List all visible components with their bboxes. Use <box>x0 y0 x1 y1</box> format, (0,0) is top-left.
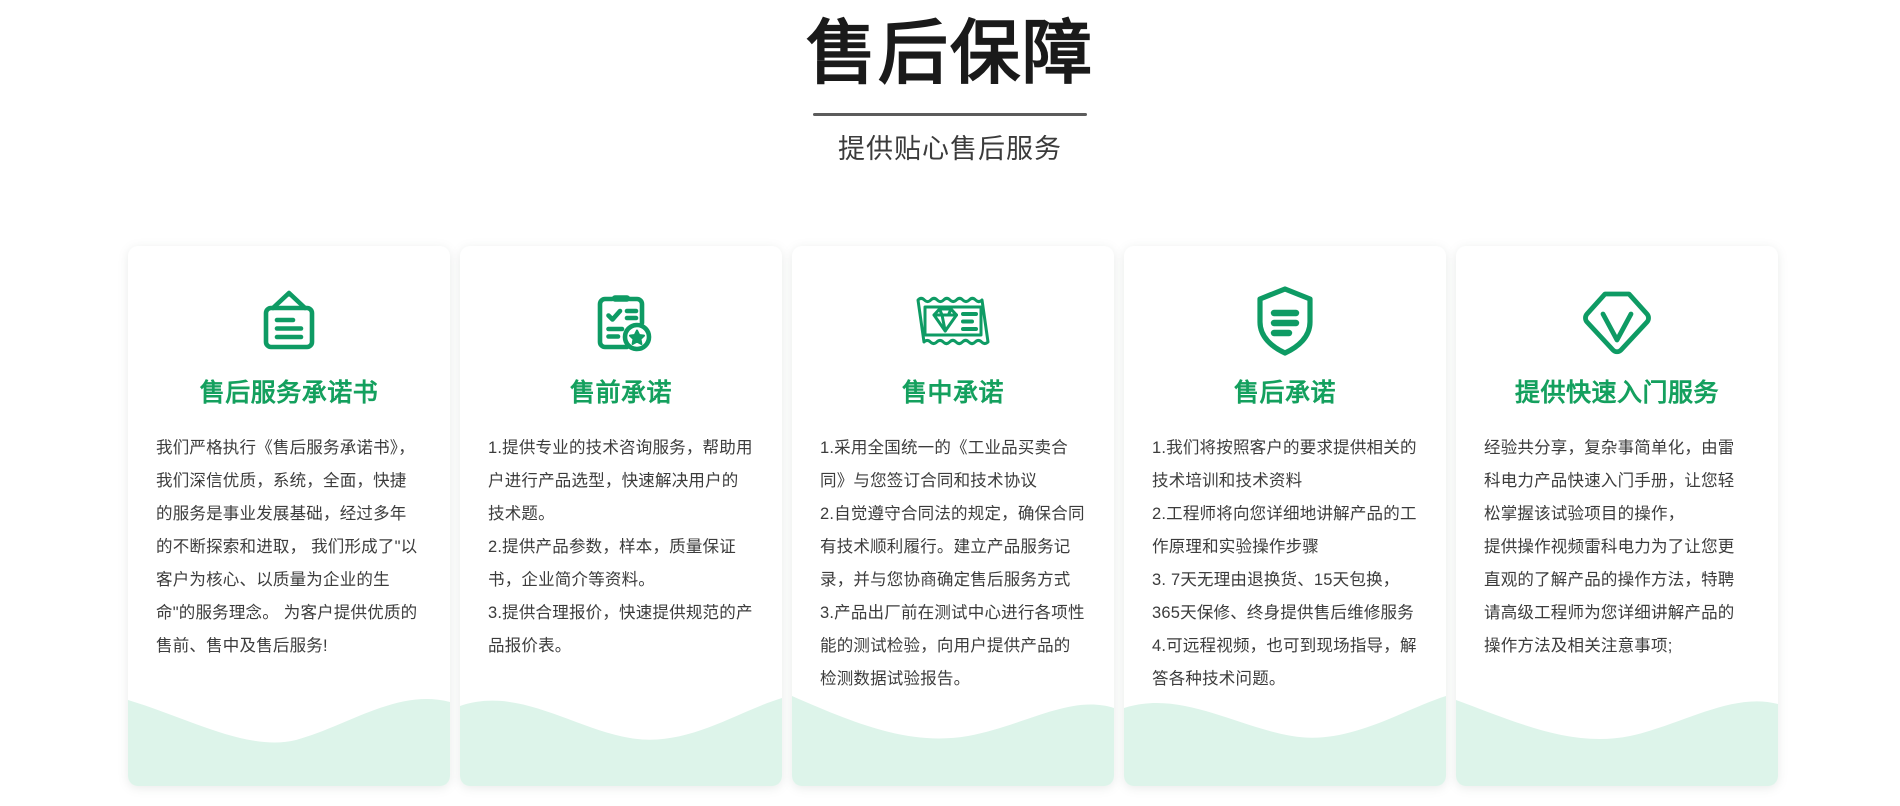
guarantee-card[interactable]: 售后服务承诺书 我们严格执行《售后服务承诺书》，我们深信优质，系统，全面，快捷的… <box>128 246 450 786</box>
guarantee-card[interactable]: 售后承诺 1.我们将按照客户的要求提供相关的技术培训和技术资料 2.工程师将向您… <box>1124 246 1446 786</box>
hanging-sign-icon <box>156 278 422 364</box>
card-body-text: 我们严格执行《售后服务承诺书》，我们深信优质，系统，全面，快捷的服务是事业发展基… <box>156 432 422 663</box>
card-content: 售后承诺 1.我们将按照客户的要求提供相关的技术培训和技术资料 2.工程师将向您… <box>1124 246 1446 786</box>
card-title: 售后承诺 <box>1152 378 1418 408</box>
guarantee-card-list: 售后服务承诺书 我们严格执行《售后服务承诺书》，我们深信优质，系统，全面，快捷的… <box>128 246 1772 786</box>
card-content: 提供快速入门服务 经验共分享，复杂事简单化，由雷科电力产品快速入门手册，让您轻松… <box>1456 246 1778 786</box>
card-body-text: 经验共分享，复杂事简单化，由雷科电力产品快速入门手册，让您轻松掌握该试验项目的操… <box>1484 432 1750 663</box>
shield-lines-icon <box>1152 278 1418 364</box>
card-content: 售中承诺 1.采用全国统一的《工业品买卖合同》与您签订合同和技术协议 2.自觉遵… <box>792 246 1114 786</box>
diamond-check-icon <box>1484 278 1750 364</box>
page-title: 售后保障 <box>0 14 1900 92</box>
guarantee-card[interactable]: 售中承诺 1.采用全国统一的《工业品买卖合同》与您签订合同和技术协议 2.自觉遵… <box>792 246 1114 786</box>
card-title: 提供快速入门服务 <box>1484 378 1750 408</box>
clipboard-star-icon <box>488 278 754 364</box>
card-body-text: 1.采用全国统一的《工业品买卖合同》与您签订合同和技术协议 2.自觉遵守合同法的… <box>820 432 1086 696</box>
guarantee-card[interactable]: 提供快速入门服务 经验共分享，复杂事简单化，由雷科电力产品快速入门手册，让您轻松… <box>1456 246 1778 786</box>
card-title: 售前承诺 <box>488 378 754 408</box>
card-content: 售后服务承诺书 我们严格执行《售后服务承诺书》，我们深信优质，系统，全面，快捷的… <box>128 246 450 786</box>
card-content: 售前承诺 1.提供专业的技术咨询服务，帮助用户进行产品选型，快速解决用户的技术题… <box>460 246 782 786</box>
card-body-text: 1.提供专业的技术咨询服务，帮助用户进行产品选型，快速解决用户的技术题。 2.提… <box>488 432 754 663</box>
after-sales-guarantee-page: 售后保障 提供贴心售后服务 <box>0 0 1900 806</box>
page-header: 售后保障 提供贴心售后服务 <box>0 0 1900 167</box>
card-title: 售后服务承诺书 <box>156 378 422 408</box>
card-body-text: 1.我们将按照客户的要求提供相关的技术培训和技术资料 2.工程师将向您详细地讲解… <box>1152 432 1418 696</box>
guarantee-card[interactable]: 售前承诺 1.提供专业的技术咨询服务，帮助用户进行产品选型，快速解决用户的技术题… <box>460 246 782 786</box>
card-title: 售中承诺 <box>820 378 1086 408</box>
page-subtitle: 提供贴心售后服务 <box>0 132 1900 167</box>
title-divider <box>813 113 1087 116</box>
stamp-diamond-icon <box>820 278 1086 364</box>
